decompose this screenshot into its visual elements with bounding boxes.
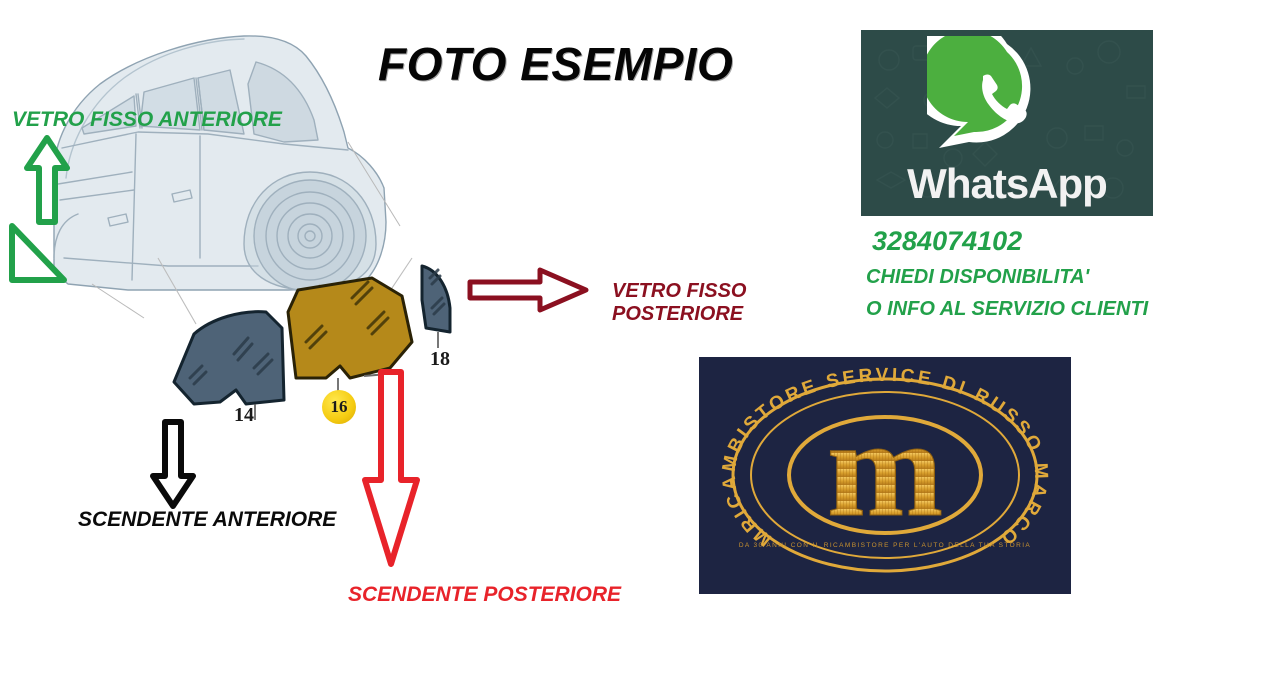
label-rear-drop-glass: SCENDENTE POSTERIORE [348, 583, 621, 607]
darkred-right-arrow-icon [466, 266, 590, 314]
part-18-glass [422, 266, 450, 348]
label-front-drop-glass: SCENDENTE ANTERIORE [78, 508, 336, 532]
page-title: FOTO ESEMPIO [378, 38, 733, 91]
contact-cta-line2: O INFO AL SERVIZIO CLIENTI [866, 298, 1148, 321]
contact-cta-line1: CHIEDI DISPONIBILITA' [866, 266, 1089, 289]
phone-number[interactable]: 3284074102 [872, 226, 1022, 257]
label-rear-fixed-glass-line1: VETRO FISSO [612, 280, 746, 303]
part-number-16-badge: 16 [322, 390, 356, 424]
part-number-17: 17 [378, 398, 398, 421]
whatsapp-wordmark: WhatsApp [861, 160, 1153, 208]
part-number-18: 18 [430, 348, 450, 371]
shop-logo-monogram: m [827, 391, 944, 546]
label-rear-fixed-glass: VETRO FISSO POSTERIORE [612, 280, 746, 326]
label-front-fixed-glass: VETRO FISSO ANTERIORE [12, 108, 282, 132]
whatsapp-banner: WhatsApp [861, 30, 1153, 216]
whatsapp-logo-icon [927, 36, 1087, 168]
part-16-glass [288, 278, 412, 400]
shop-logo: MRICAMBISTORE SERVICE DI RUSSO MARCO m D… [699, 357, 1071, 594]
part-number-14: 14 [234, 404, 254, 427]
label-rear-fixed-glass-line2: POSTERIORE [612, 303, 746, 326]
part-14-glass [174, 312, 284, 420]
shop-logo-artwork: MRICAMBISTORE SERVICE DI RUSSO MARCO m D… [699, 357, 1071, 594]
svg-text:DA 30 ANNI CON IL RICAMBISTORE: DA 30 ANNI CON IL RICAMBISTORE PER L'AUT… [739, 542, 1031, 549]
